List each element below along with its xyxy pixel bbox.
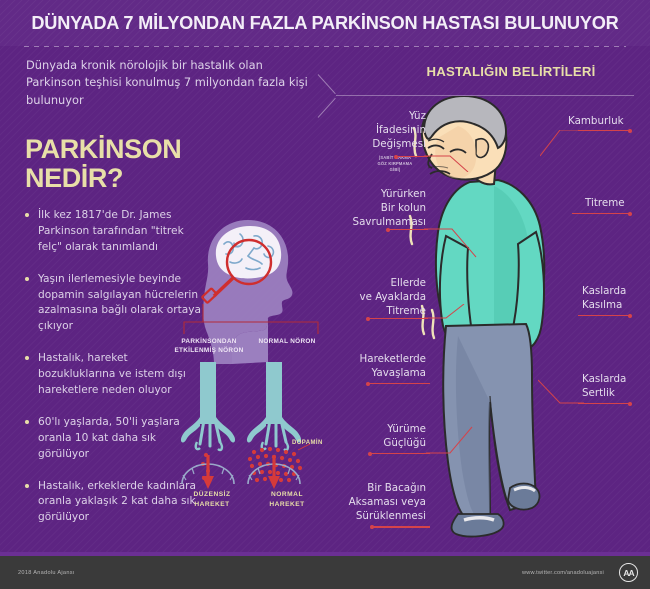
bullet-dot-icon	[25, 420, 29, 424]
leader-elbow-arm-swing	[424, 215, 484, 259]
footer-credit: 2018 Anadolu Ajansı	[18, 570, 75, 576]
symptom-line: Bir Bacağın Aksaması veya Sürüklenmesi	[330, 481, 426, 524]
leader-line-slowness	[368, 383, 430, 384]
shoe-left	[452, 514, 504, 537]
leader-line-tremor	[572, 213, 630, 214]
symptom-label-slowness: Hareketlerde Yavaşlama	[332, 352, 426, 380]
neuron-diagram-svg	[170, 212, 335, 532]
leader-dot	[628, 314, 632, 318]
left-heading-line1: PARKİNSON	[25, 135, 255, 164]
footer-url[interactable]: www.twitter.com/anadoluajansi	[522, 570, 604, 576]
leader-line-muscle-stiffness	[578, 403, 630, 404]
leader-line-walking	[370, 453, 430, 454]
neuron-right-label: NORMAL NÖRON	[256, 337, 318, 346]
symptom-line: Kamburluk	[568, 114, 646, 128]
symptom-line: Kaslarda Sertlik	[582, 372, 650, 400]
symptom-line: Kaslarda Kasılma	[582, 284, 650, 312]
page-title: DÜNYADA 7 MİLYONDAN FAZLA PARKİNSON HAST…	[31, 13, 618, 34]
neuron-right	[247, 362, 310, 489]
brain-icon	[216, 226, 281, 278]
list-item-text: Hastalık, hareket bozukluklarına ve iste…	[38, 352, 186, 396]
leader-elbow-walking	[426, 425, 482, 459]
infographic-canvas: DÜNYADA 7 MİLYONDAN FAZLA PARKİNSON HAST…	[0, 0, 650, 589]
leader-dot	[368, 452, 372, 456]
leader-dot	[628, 402, 632, 406]
symptom-line: Yürüme Güçlüğü	[334, 422, 426, 450]
symptom-line: Yürürken Bir kolun Savrulmaması	[336, 187, 426, 230]
symptom-label-tremor-hands: Ellerde ve Ayaklarda Titreme	[334, 276, 426, 319]
header-bar: DÜNYADA 7 MİLYONDAN FAZLA PARKİNSON HAST…	[0, 0, 650, 46]
symptom-label-muscle-stiffness: Kaslarda Sertlik	[582, 372, 650, 400]
leader-dot	[370, 525, 374, 529]
leader-elbow-hunchback	[540, 130, 582, 166]
leader-dot	[386, 228, 390, 232]
leader-elbow-tremor-hands	[424, 304, 474, 326]
leader-dot	[628, 212, 632, 216]
symptom-label-muscle-contraction: Kaslarda Kasılma	[582, 284, 650, 312]
section-chevron-icon	[318, 74, 340, 118]
shoe-right	[508, 484, 539, 510]
left-heading-line2: NEDİR?	[25, 164, 255, 193]
list-item-text: İlk kez 1817'de Dr. James Parkinson tara…	[38, 209, 184, 253]
bullet-dot-icon	[25, 356, 29, 360]
symptom-label-face: Yüz İfadesinin Değişmesi	[338, 109, 426, 152]
leader-line-tremor-hands	[368, 318, 428, 319]
footer-bar: 2018 Anadolu Ajansı www.twitter.com/anad…	[0, 556, 650, 589]
symptom-line: Ellerde ve Ayaklarda Titreme	[334, 276, 426, 319]
neuron-left	[181, 362, 235, 489]
leader-line-arm-swing	[388, 229, 428, 230]
leader-line-muscle-contraction	[578, 315, 630, 316]
list-item-text: 60'lı yaşlarda, 50'li yaşlara oranla 10 …	[38, 416, 180, 460]
leader-dot	[628, 129, 632, 133]
symptoms-section-title: HASTALIĞIN BELİRTİLERİ	[396, 64, 626, 79]
arrow-down-icon-left	[202, 455, 214, 489]
dopamine-label: DOPAMİN	[292, 440, 323, 446]
intro-paragraph: Dünyada kronik nörolojik bir hastalık ol…	[26, 57, 310, 109]
neuron-diagram: PARKİNSONDAN ETKİLENMİŞ NÖRON NORMAL NÖR…	[170, 212, 335, 532]
leader-elbow-face	[424, 142, 472, 172]
anadolu-ajansi-logo-icon: AA	[619, 563, 638, 582]
header-dashed-divider	[24, 46, 626, 47]
leader-elbow-muscle-stiffness	[538, 360, 584, 406]
leader-dot	[366, 382, 370, 386]
movement-left-label: DÜZENSİZ HAREKET	[176, 490, 248, 510]
symptom-line: Hareketlerde Yavaşlama	[332, 352, 426, 380]
leader-dot	[394, 155, 398, 159]
neuron-left-label: PARKİNSONDAN ETKİLENMİŞ NÖRON	[172, 337, 246, 356]
symptom-label-hunchback: Kamburluk	[568, 114, 646, 128]
symptom-line: Yüz İfadesinin Değişmesi	[338, 109, 426, 152]
symptom-label-arm-swing: Yürürken Bir kolun Savrulmaması	[336, 187, 426, 230]
symptom-label-walking: Yürüme Güçlüğü	[334, 422, 426, 450]
symptom-line: Titreme	[585, 196, 649, 210]
bullet-dot-icon	[25, 213, 29, 217]
left-heading: PARKİNSON NEDİR?	[25, 135, 255, 192]
symptom-label-tremor: Titreme	[585, 196, 649, 210]
movement-right-label: NORMAL HAREKET	[256, 490, 318, 510]
bullet-dot-icon	[25, 484, 29, 488]
leader-line-hunchback	[578, 130, 630, 131]
symptom-label-leg-drag: Bir Bacağın Aksaması veya Sürüklenmesi	[330, 481, 426, 524]
leader-dot	[366, 317, 370, 321]
bullet-dot-icon	[25, 277, 29, 281]
leader-line-leg-drag	[372, 526, 430, 528]
